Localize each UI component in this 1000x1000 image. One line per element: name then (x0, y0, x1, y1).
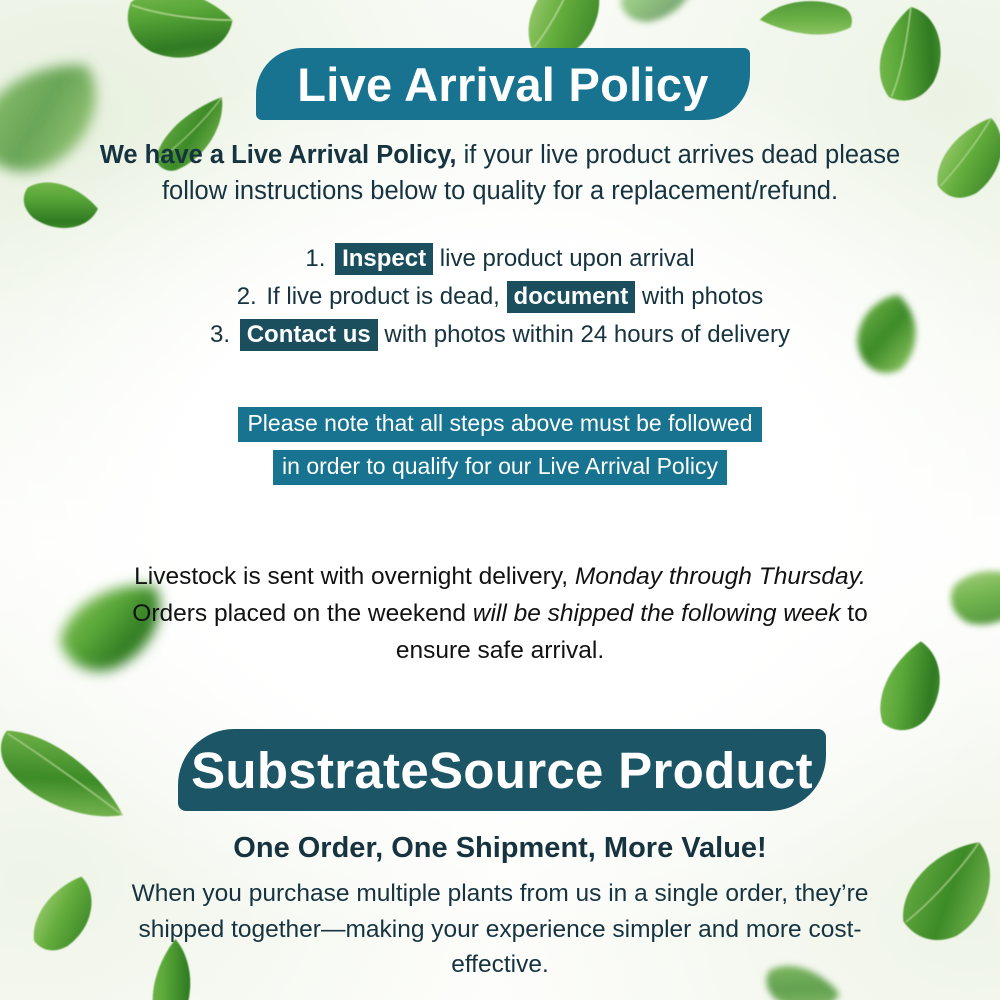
step-highlight-document: document (507, 281, 636, 313)
step-after-text: with photos (635, 283, 763, 310)
step-highlight-contact-us[interactable]: Contact us (240, 319, 378, 351)
step-number: 3. (210, 321, 230, 348)
substratesource-product-banner: SubstrateSource Product (178, 729, 826, 811)
live-arrival-policy-banner: Live Arrival Policy (256, 48, 750, 120)
intro-paragraph: We have a Live Arrival Policy, if your l… (90, 137, 910, 209)
value-headline: One Order, One Shipment, More Value! (120, 832, 880, 865)
step-number: 2. (237, 283, 257, 310)
substratesource-product-banner-label: SubstrateSource Product (191, 741, 813, 800)
shipping-text-1: Livestock is sent with overnight deliver… (134, 563, 575, 590)
poster-root: Live Arrival Policy We have a Live Arriv… (0, 0, 1000, 1000)
policy-note-line-1: Please note that all steps above must be… (238, 407, 761, 442)
shipping-italic-days: Monday through Thursday. (575, 563, 866, 590)
poster-content: Live Arrival Policy We have a Live Arriv… (0, 0, 1000, 1000)
list-item: 1. Inspect live product upon arrival (120, 245, 880, 273)
policy-note-block: Please note that all steps above must be… (120, 407, 880, 493)
steps-list: 1. Inspect live product upon arrival 2. … (120, 245, 880, 359)
list-item: 2. If live product is dead, document wit… (120, 283, 880, 311)
live-arrival-policy-banner-label: Live Arrival Policy (297, 57, 709, 112)
value-paragraph: When you purchase multiple plants from u… (100, 876, 900, 983)
step-number: 1. (305, 245, 325, 272)
shipping-italic-week: will be shipped the following week (473, 600, 841, 627)
shipping-text-2: Orders placed on the weekend (132, 600, 473, 627)
step-after-text: live product upon arrival (433, 245, 694, 272)
list-item: 3. Contact us with photos within 24 hour… (120, 321, 880, 349)
step-before-text: If live product is dead, (266, 283, 506, 310)
step-after-text: with photos within 24 hours of delivery (378, 321, 790, 348)
policy-note-line-2: in order to qualify for our Live Arrival… (273, 450, 727, 485)
shipping-schedule-paragraph: Livestock is sent with overnight deliver… (120, 558, 880, 670)
intro-bold-text: We have a Live Arrival Policy, (100, 141, 457, 169)
step-highlight-inspect: Inspect (335, 243, 433, 275)
